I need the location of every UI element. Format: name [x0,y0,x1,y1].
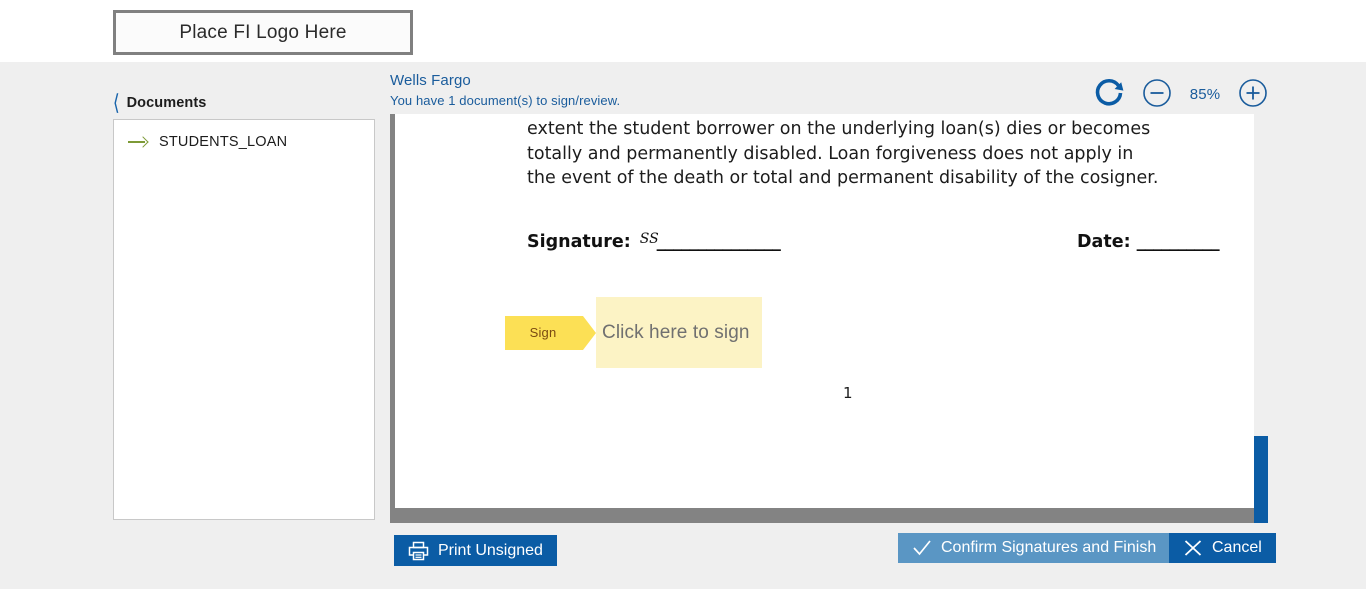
zoom-out-button[interactable] [1142,78,1172,111]
document-name: STUDENTS_LOAN [159,134,287,150]
signature-row: Signature: SS _______________ Date: ____… [527,232,1247,252]
signature-rule: _______________ [657,232,781,252]
page-paragraph: extent the student borrower on the under… [527,117,1167,191]
plus-circle-icon [1238,78,1268,111]
document-page: extent the student borrower on the under… [395,114,1256,508]
vertical-scrollbar-track[interactable] [1254,114,1268,523]
close-x-icon [1183,538,1203,558]
signature-field-group: Sign Click here to sign [505,297,762,368]
confirm-signatures-label: Confirm Signatures and Finish [941,539,1156,557]
signature-value: SS [640,231,659,247]
signature-label: Signature: [527,232,631,252]
document-list-panel: STUDENTS_LOAN [113,119,375,520]
organization-name: Wells Fargo [390,72,1080,89]
sign-field-label: Click here to sign [602,322,750,344]
click-here-to-sign-field[interactable]: Click here to sign [596,297,762,368]
confirm-signatures-button[interactable]: Confirm Signatures and Finish [898,533,1170,563]
page-number: 1 [843,384,853,402]
app-body: ⟨ Documents STUDENTS_LOAN Wells Fargo Yo… [0,62,1366,589]
arrow-right-icon [128,136,150,148]
cancel-label: Cancel [1212,539,1262,557]
back-link-label: Documents [127,95,207,111]
list-item[interactable]: STUDENTS_LOAN [114,120,374,150]
sign-tag-label: Sign [530,325,557,340]
print-unsigned-label: Print Unsigned [438,542,543,560]
logo-placeholder: Place FI Logo Here [113,10,413,55]
chevron-left-icon: ⟨ [113,92,120,114]
date-label: Date: [1077,232,1131,252]
print-unsigned-button[interactable]: Print Unsigned [394,535,557,566]
vertical-scrollbar-thumb[interactable] [1254,436,1268,523]
sign-tag-button[interactable]: Sign [505,316,583,350]
refresh-icon [1092,76,1126,113]
horizontal-scrollbar[interactable] [390,514,1256,523]
back-to-documents-link[interactable]: ⟨ Documents [112,92,206,114]
zoom-level-label: 85% [1188,86,1222,103]
refresh-button[interactable] [1092,76,1126,113]
viewer-toolbar: 85% [1092,76,1268,113]
top-banner: Place FI Logo Here [0,0,1366,62]
date-rule: __________ [1137,232,1220,252]
minus-circle-icon [1142,78,1172,111]
logo-placeholder-text: Place FI Logo Here [179,22,346,44]
document-header: Wells Fargo You have 1 document(s) to si… [390,72,1080,108]
date-block: Date: __________ [1077,232,1219,252]
zoom-in-button[interactable] [1238,78,1268,111]
signature-block: Signature: SS _______________ [527,232,780,252]
document-viewer: extent the student borrower on the under… [390,114,1268,523]
cancel-button[interactable]: Cancel [1169,533,1276,563]
check-icon [912,538,932,558]
document-status-text: You have 1 document(s) to sign/review. [390,93,1080,108]
printer-icon [408,541,429,561]
